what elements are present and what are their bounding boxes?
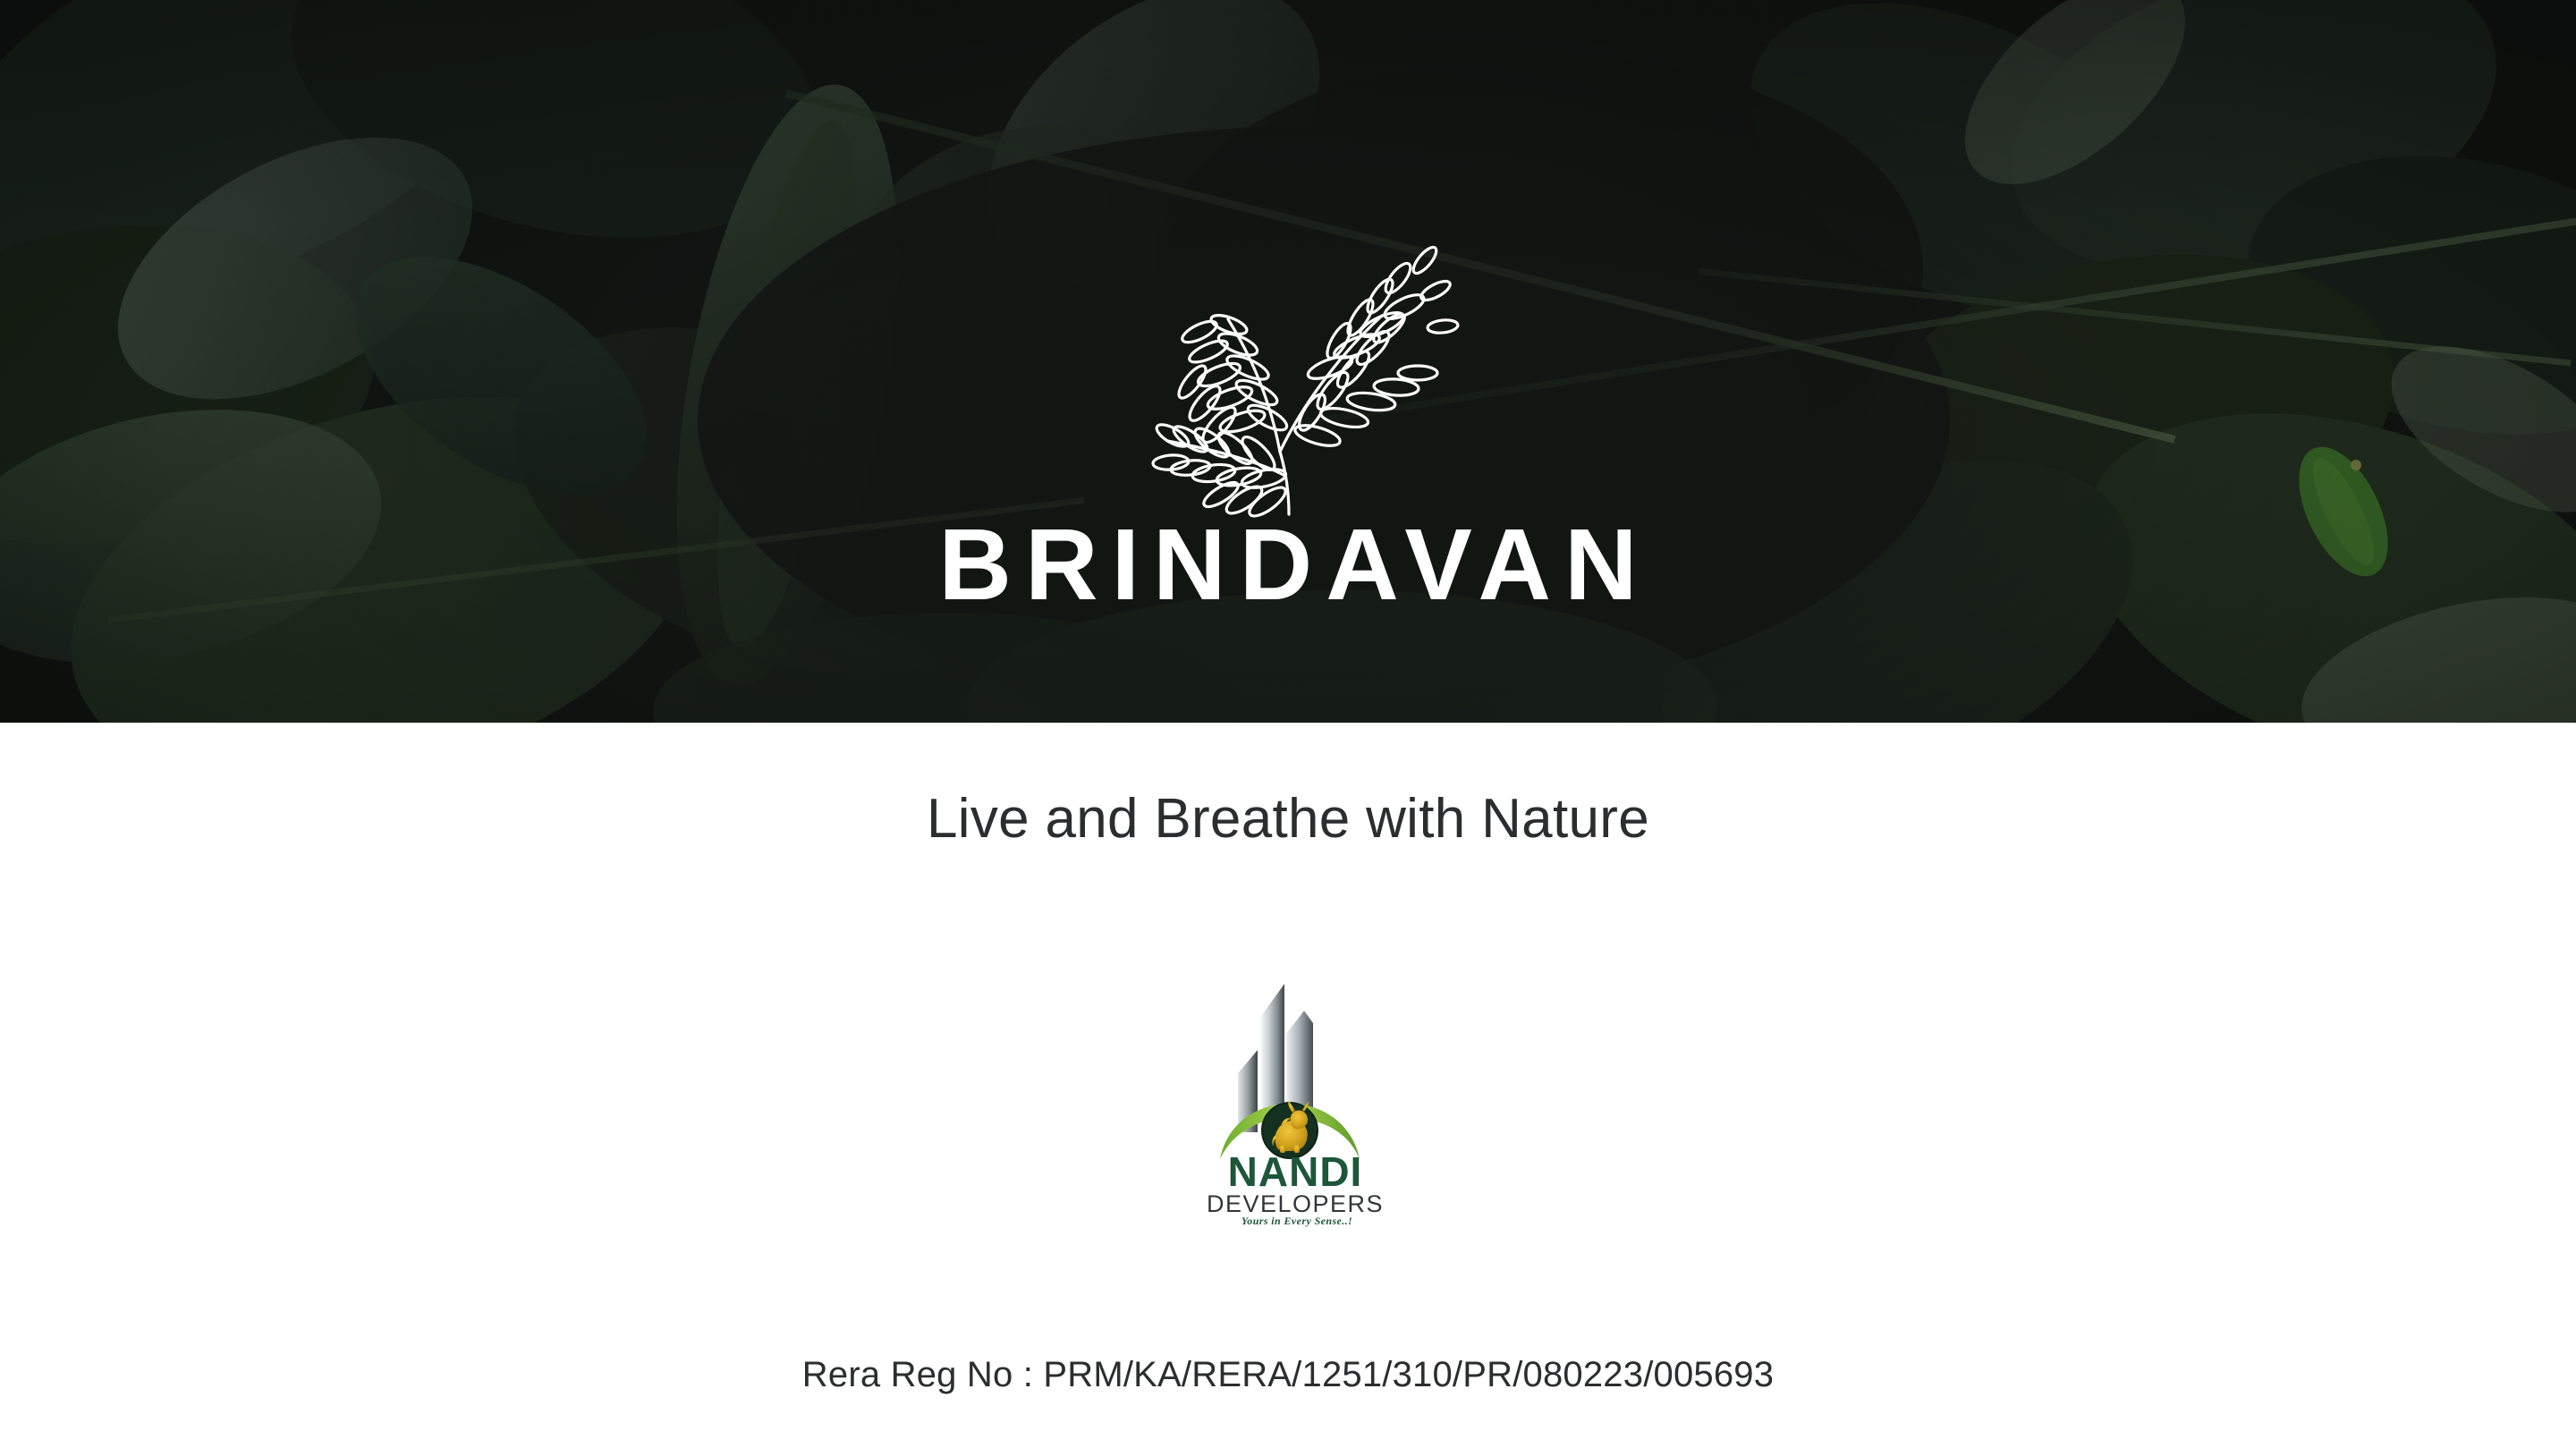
nandi-developers-logo: NANDI DEVELOPERS Yours in Every Sense..! bbox=[1191, 973, 1399, 1228]
page-title: BRINDAVAN bbox=[0, 514, 2576, 615]
svg-text:NANDI: NANDI bbox=[1228, 1148, 1363, 1195]
hero-banner: BRINDAVAN bbox=[0, 0, 2576, 723]
svg-text:DEVELOPERS: DEVELOPERS bbox=[1207, 1190, 1384, 1217]
fern-frond-icon bbox=[1114, 157, 1471, 519]
tagline: Live and Breathe with Nature bbox=[0, 787, 2576, 851]
slide-root: BRINDAVAN Live and Breathe with Nature bbox=[0, 0, 2576, 1448]
svg-text:Yours in Every Sense..!: Yours in Every Sense..! bbox=[1241, 1215, 1352, 1227]
rera-registration-number: Rera Reg No : PRM/KA/RERA/1251/310/PR/08… bbox=[0, 1355, 2576, 1395]
content-area: Live and Breathe with Nature bbox=[0, 723, 2576, 1448]
